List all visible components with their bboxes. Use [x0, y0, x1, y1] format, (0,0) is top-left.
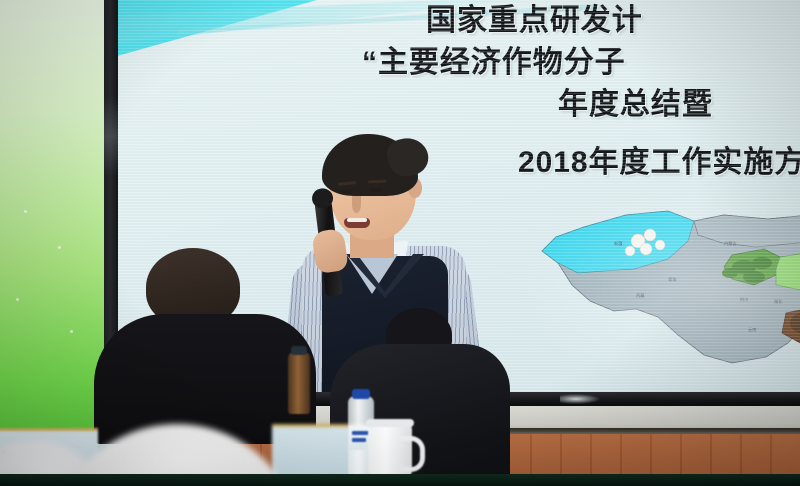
presenter-mouth: [344, 218, 370, 228]
presentation-photo-scene: 国家重点研发计 “主要经济作物分子 年度总结暨 2018年度工作实施方: [0, 0, 800, 486]
presenter-hand-holding-mic: [311, 228, 349, 274]
screen-speck: [58, 246, 61, 249]
china-distribution-map: 新疆青海西藏 内蒙古四川湖北 河南安徽云南 江西福建: [518, 185, 800, 390]
svg-text:西藏: 西藏: [636, 292, 645, 299]
presenter-nose: [352, 196, 361, 213]
presenter-eye-left: [339, 190, 351, 194]
ceramic-mug: [368, 424, 412, 480]
screen-speck: [70, 330, 73, 333]
bottle-cap: [352, 389, 370, 399]
mug-lid: [366, 419, 414, 427]
tea-bottle: [288, 352, 310, 414]
svg-text:湖北: 湖北: [774, 298, 783, 305]
svg-text:四川: 四川: [740, 297, 748, 302]
svg-text:云南: 云南: [748, 326, 756, 333]
screen-speck: [24, 210, 27, 213]
slide-title-line-3: 年度总结暨: [558, 90, 713, 120]
slide-subtitle-line: 2018年度工作实施方: [518, 148, 800, 178]
slide-title-line-1: 国家重点研发计: [426, 6, 643, 36]
frame-light-reflection: [560, 394, 600, 404]
screen-speck: [16, 298, 19, 301]
china-map-svg: 新疆青海西藏 内蒙古四川湖北 河南安徽云南 江西福建: [518, 185, 800, 390]
mug-handle: [400, 436, 425, 472]
svg-text:青海: 青海: [668, 276, 677, 283]
table-edge: [0, 474, 800, 486]
bottle-cap: [291, 346, 307, 355]
slide-title-line-2: “主要经济作物分子: [362, 48, 626, 78]
svg-text:内蒙古: 内蒙古: [724, 240, 737, 247]
svg-text:新疆: 新疆: [614, 240, 622, 247]
seated-attendee-center: [104, 248, 304, 438]
bezel-highlight: [104, 96, 118, 176]
presenter-eye-right: [369, 188, 381, 192]
secondary-green-screen: [0, 0, 104, 430]
